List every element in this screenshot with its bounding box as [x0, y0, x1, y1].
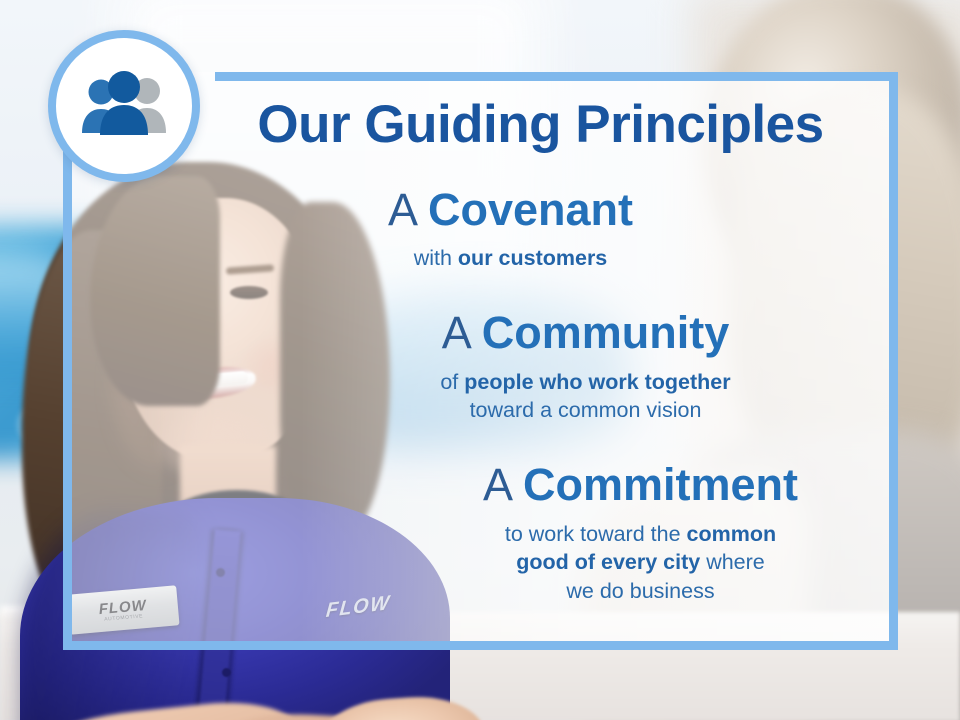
principle-article: A — [483, 459, 523, 510]
principle-commitment: A Commitment to work toward the common g… — [63, 462, 960, 605]
principle-article: A — [388, 184, 428, 235]
principle-keyword: Community — [482, 307, 730, 358]
subtext-line1-plain: with — [414, 246, 458, 270]
subtext-line2-plain: where — [700, 550, 765, 574]
subtext-line1-bold: people who work together — [464, 370, 730, 394]
subtext-line2: toward a common vision — [168, 396, 960, 424]
subtext-line2: good of every city where — [223, 548, 960, 576]
principle-subtext: with our customers — [93, 244, 928, 272]
principle-keyword: Covenant — [428, 184, 633, 235]
principle-keyword: Commitment — [523, 459, 798, 510]
subtext-line1: of people who work together — [168, 368, 960, 396]
subtext-line1-bold: common — [687, 522, 777, 546]
principle-heading: A Commitment — [223, 462, 960, 507]
subtext-line2-bold: good of every city — [516, 550, 700, 574]
principle-subtext: to work toward the common good of every … — [223, 520, 960, 605]
principle-covenant: A Covenant with our customers — [63, 187, 928, 272]
subtext-line1-plain: to work toward the — [505, 522, 687, 546]
guiding-principles-graphic: FLOW AUTOMOTIVE FLOW Our Guiding Princip… — [0, 0, 960, 720]
people-group-icon — [76, 71, 172, 141]
subtext-line1: to work toward the common — [223, 520, 960, 548]
subtext-line1-bold: our customers — [458, 246, 607, 270]
people-group-badge — [48, 30, 200, 182]
principle-article: A — [442, 307, 482, 358]
principles-content: Our Guiding Principles A Covenant with o… — [63, 72, 898, 650]
principle-community: A Community of people who work together … — [63, 310, 960, 425]
subtext-line1-plain: of — [440, 370, 464, 394]
principle-subtext: of people who work together toward a com… — [168, 368, 960, 425]
principle-heading: A Covenant — [93, 187, 928, 232]
principle-heading: A Community — [168, 310, 960, 355]
subtext-line3: we do business — [223, 577, 960, 605]
polo-button-bottom — [222, 668, 231, 677]
